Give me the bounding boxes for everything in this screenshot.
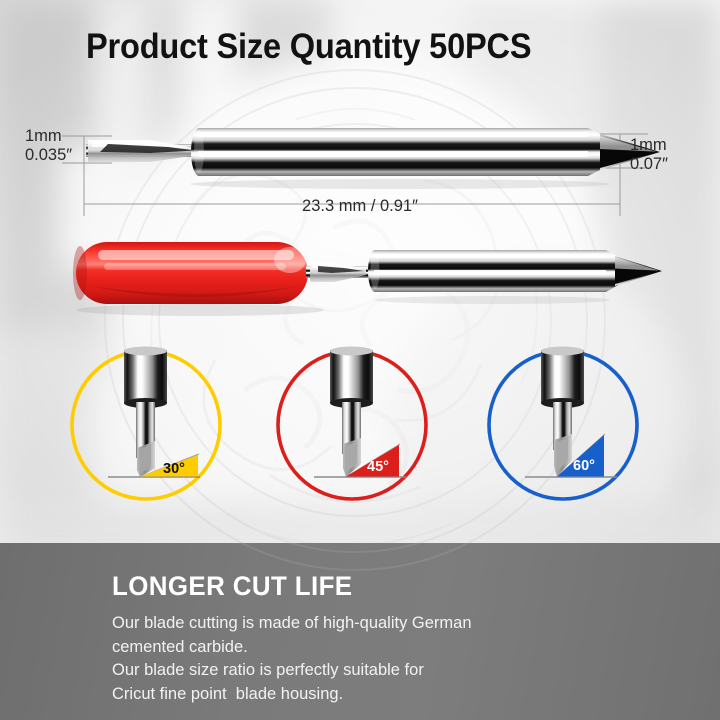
angle-circle-30: 30° — [72, 347, 220, 500]
angle-circles-group: 30° 45° 60° — [0, 338, 720, 534]
angle-circle-45: 45° — [278, 347, 426, 500]
footer-heading: LONGER CUT LIFE — [112, 571, 352, 602]
angle-label-30: 30° — [163, 461, 185, 477]
footer-body: Our blade cutting is made of high-qualit… — [112, 612, 472, 706]
left-dimension-line2: 0.035″ — [25, 146, 72, 165]
top-blade-right-dimension: 1mm 0.07″ — [630, 136, 668, 174]
angle-label-60: 60° — [573, 458, 595, 474]
infographic-canvas: Product Size Quantity 50PCS — [0, 0, 720, 720]
top-blade-left-dimension: 1mm 0.035″ — [25, 127, 72, 165]
page-title: Product Size Quantity 50PCS — [86, 27, 531, 67]
angle-label-45: 45° — [367, 459, 389, 475]
left-dimension-line1: 1mm — [25, 127, 72, 146]
top-blade-length-dimension: 23.3 mm / 0.91″ — [0, 197, 720, 216]
right-dimension-line1: 1mm — [630, 136, 668, 155]
angle-circle-60: 60° — [489, 347, 637, 500]
red-handle-blade-diagram — [0, 228, 720, 338]
right-dimension-line2: 0.07″ — [630, 155, 668, 174]
